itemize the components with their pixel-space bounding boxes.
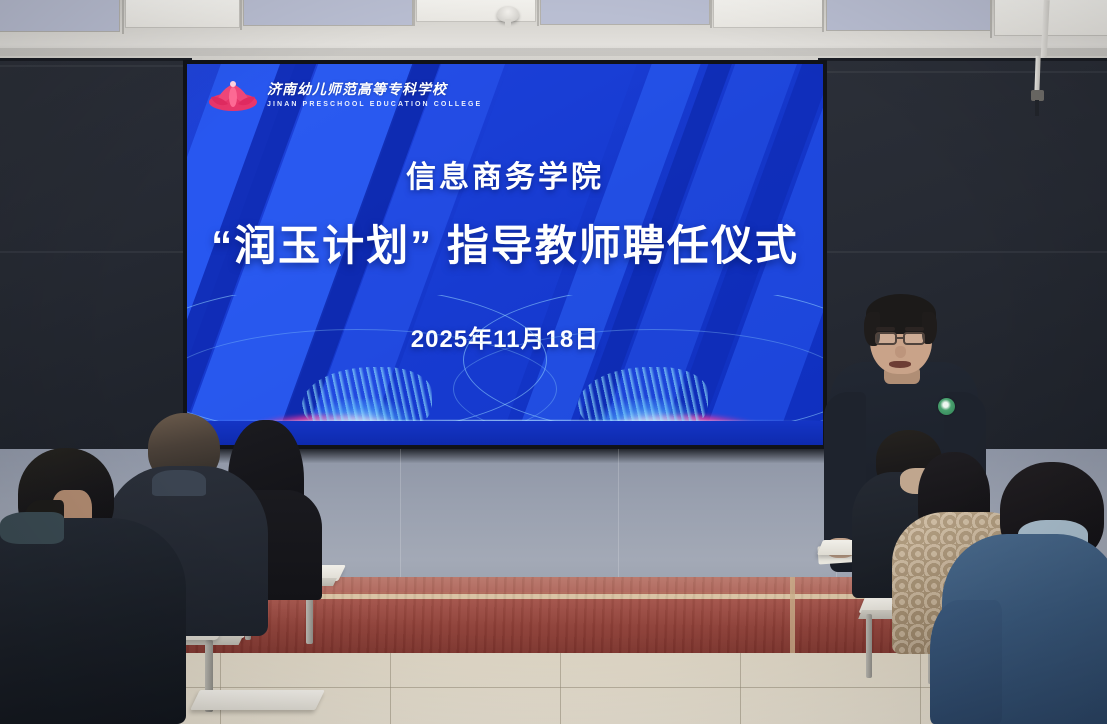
hanging-mount-tail (1035, 100, 1039, 116)
led-screen: 济南幼儿师范高等专科学校 JINAN PRESCHOOL EDUCATION C… (187, 64, 823, 445)
screen-headline-line2: “润玉计划” 指导教师聘任仪式 (187, 212, 823, 273)
college-logo: 济南幼儿师范高等专科学校 JINAN PRESCHOOL EDUCATION C… (207, 80, 482, 112)
desk-tablet-arm (190, 690, 325, 710)
screen-headline-line1: 信息商务学院 (187, 152, 823, 196)
lotus-flower-logo-icon (207, 80, 259, 112)
school-name-en: JINAN PRESCHOOL EDUCATION COLLEGE (267, 101, 482, 108)
photo-scene: 济南幼儿师范高等专科学校 JINAN PRESCHOOL EDUCATION C… (0, 0, 1107, 724)
presenter-eyebrow-left (876, 327, 895, 331)
school-name-cn: 济南幼儿师范高等专科学校 (267, 84, 482, 98)
desk-leg (866, 614, 872, 678)
wall-board-left (0, 58, 192, 458)
lapel-badge-icon (938, 398, 955, 415)
glasses-icon-left-lens (875, 332, 897, 345)
smoke-detector-stem (505, 19, 511, 28)
presenter-mouth (889, 361, 911, 368)
glasses-bridge (897, 337, 903, 339)
presenter-nose (895, 346, 906, 358)
led-screen-bezel: 济南幼儿师范高等专科学校 JINAN PRESCHOOL EDUCATION C… (183, 60, 827, 449)
glasses-icon-right-lens (903, 332, 925, 345)
presenter-eyebrow-right (905, 327, 924, 331)
